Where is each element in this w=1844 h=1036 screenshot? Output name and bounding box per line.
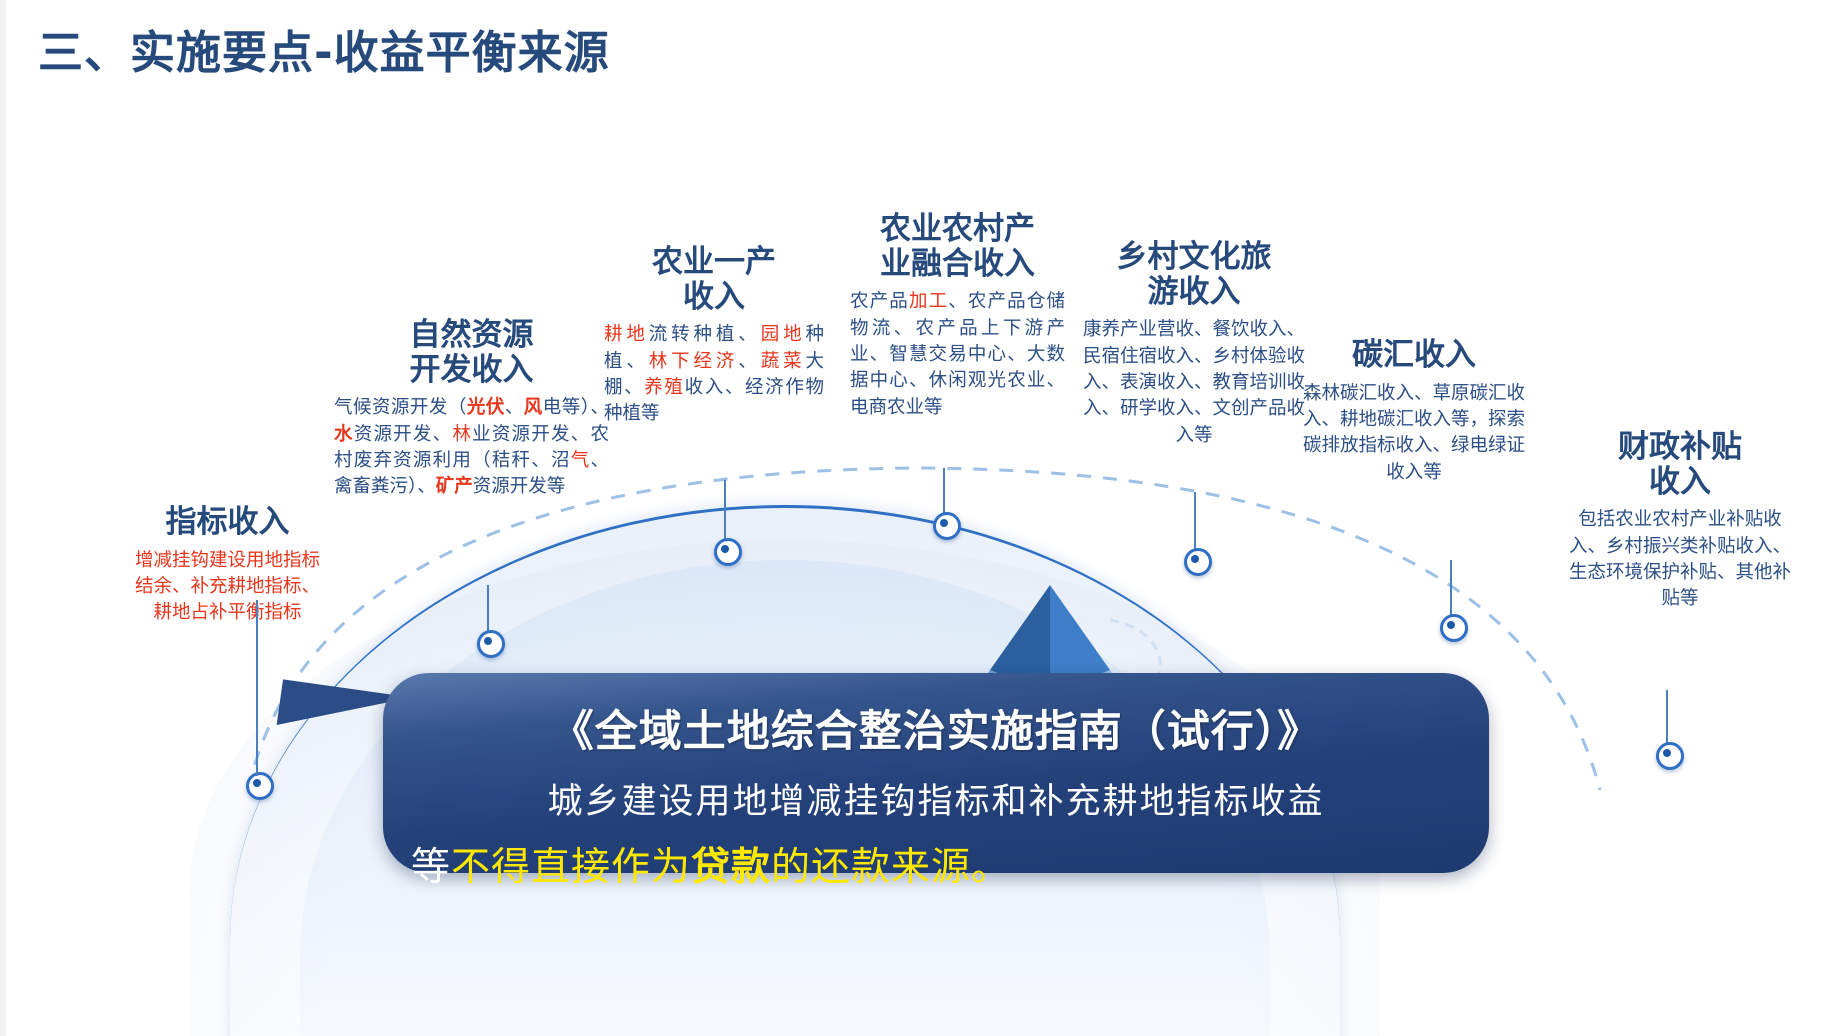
node-body-segment: 森林碳汇收入、草原碳汇收入、耕地碳汇收入等，探索碳排放指标收入、绿电绿证收入等 [1303, 383, 1525, 483]
slide-canvas: 三、实施要点-收益平衡来源 指标收入 增减挂钩建设用地指标结余、补充耕地指标、耕… [0, 0, 1844, 1036]
node-body-segment: 、 [505, 397, 524, 418]
node-body: 增减挂钩建设用地指标结余、补充耕地指标、耕地占补平衡指标 [135, 548, 320, 627]
node-body: 森林碳汇收入、草原碳汇收入、耕地碳汇收入等，探索碳排放指标收入、绿电绿证收入等 [1298, 381, 1530, 486]
node-body-segment: 电等）、 [543, 397, 609, 418]
node-agriculture-rural-integration-income[interactable]: 农业农村产 业融合收入 农产品加工、农产品仓储物流、农产品上下游产业、智慧交易中… [850, 212, 1065, 421]
node-rural-culture-tourism-income[interactable]: 乡村文化旅 游收入 康养产业营收、餐饮收入、民宿住宿收入、乡村体验收入、表演收入… [1075, 240, 1313, 449]
node-body-segment: 养殖 [644, 377, 684, 398]
callout-box: 《全域土地综合整治实施指南（试行）》 城乡建设用地增减挂钩指标和补充耕地指标收益… [383, 673, 1489, 873]
node-title: 指标收入 [135, 505, 320, 540]
connector-dot-indicator-income[interactable] [246, 772, 274, 800]
connector-line-agri-integration [943, 468, 945, 516]
callout-segment: 不得直接作为 [451, 845, 691, 890]
node-body-segment: 林下经济 [649, 351, 739, 372]
node-agriculture-primary-industry-income[interactable]: 农业一产 收入 耕地流转种植、园地种植、林下经济、蔬菜大棚、养殖收入、经济作物种… [604, 245, 824, 428]
node-body-segment: 加工 [909, 291, 948, 312]
node-body: 气候资源开发（光伏、风电等）、水资源开发、林业资源开发、农村废弃资源利用（秸秆、… [334, 395, 609, 500]
node-body-segment: 耕地 [604, 324, 649, 345]
node-title: 农业农村产 业融合收入 [850, 212, 1065, 281]
node-body-segment: 农产品 [850, 291, 909, 312]
node-indicator-income[interactable]: 指标收入 增减挂钩建设用地指标结余、补充耕地指标、耕地占补平衡指标 [135, 505, 320, 627]
node-body-segment: 康养产业营收、餐饮收入、民宿住宿收入、乡村体验收入、表演收入、教育培训收入、研学… [1083, 319, 1305, 445]
page-title: 三、实施要点-收益平衡来源 [38, 16, 610, 81]
callout-line-3: 等不得直接作为贷款的还款来源。 [411, 836, 1489, 892]
node-title: 农业一产 收入 [604, 245, 824, 314]
callout-line-2: 城乡建设用地增减挂钩指标和补充耕地指标收益 [383, 773, 1489, 824]
node-body-segment: 资源开发、 [354, 424, 453, 445]
connector-dot-fiscal-subsidy[interactable] [1656, 742, 1684, 770]
node-title: 财政补贴 收入 [1565, 430, 1795, 499]
node-body-segment: 蔬菜 [761, 351, 806, 372]
callout-segment: 等 [411, 845, 451, 890]
node-natural-resource-development-income[interactable]: 自然资源 开发收入 气候资源开发（光伏、风电等）、水资源开发、林业资源开发、农村… [334, 318, 609, 501]
connector-line-rural-tourism [1194, 492, 1196, 552]
callout-segment: 贷款 [691, 844, 771, 890]
connector-dot-agri-integration[interactable] [933, 512, 961, 540]
connector-dot-agri-primary[interactable] [714, 538, 742, 566]
connector-line-carbon-sink [1450, 560, 1452, 618]
node-body-segment: 光伏 [467, 397, 505, 418]
node-body-segment: 流转种植、 [649, 324, 761, 345]
node-body-segment: 林 [452, 424, 472, 445]
node-body-segment: 水 [334, 424, 354, 445]
node-fiscal-subsidy-income[interactable]: 财政补贴 收入 包括农业农村产业补贴收入、乡村振兴类补贴收入、生态环境保护补贴、… [1565, 430, 1795, 613]
connector-line-natural-resource [487, 585, 489, 633]
node-body-segment: 、 [738, 351, 760, 372]
node-body-segment: 增减挂钩建设用地指标结余、补充耕地指标、耕地占补平衡指标 [135, 550, 320, 624]
node-body-segment: 园地 [761, 324, 806, 345]
connector-dot-natural-resource[interactable] [477, 630, 505, 658]
node-body-segment: 矿产 [436, 476, 473, 497]
callout-line-1: 《全域土地综合整治实施指南（试行）》 [383, 697, 1489, 759]
node-body: 耕地流转种植、园地种植、林下经济、蔬菜大棚、养殖收入、经济作物种植等 [604, 322, 824, 427]
connector-line-agri-primary [724, 480, 726, 542]
connector-dot-carbon-sink[interactable] [1440, 614, 1468, 642]
connector-dot-rural-tourism[interactable] [1184, 548, 1212, 576]
left-edge-bar [0, 0, 6, 1036]
node-title: 乡村文化旅 游收入 [1075, 240, 1313, 309]
node-body-segment: 气候资源开发（ [334, 397, 467, 418]
node-title: 自然资源 开发收入 [334, 318, 609, 387]
node-body-segment: 风 [524, 397, 543, 418]
connector-line-indicator-income-lower [256, 690, 258, 776]
node-body: 包括农业农村产业补贴收入、乡村振兴类补贴收入、生态环境保护补贴、其他补贴等 [1565, 507, 1795, 612]
callout-segment: 的还款来源。 [771, 845, 1011, 890]
node-title: 碳汇收入 [1298, 338, 1530, 373]
node-carbon-sink-income[interactable]: 碳汇收入 森林碳汇收入、草原碳汇收入、耕地碳汇收入等，探索碳排放指标收入、绿电绿… [1298, 338, 1530, 486]
node-body-segment: 气 [571, 450, 591, 471]
node-body-segment: 资源开发等 [473, 476, 566, 497]
node-body: 康养产业营收、餐饮收入、民宿住宿收入、乡村体验收入、表演收入、教育培训收入、研学… [1075, 317, 1313, 448]
node-body-segment: 包括农业农村产业补贴收入、乡村振兴类补贴收入、生态环境保护补贴、其他补贴等 [1569, 509, 1791, 609]
node-body: 农产品加工、农产品仓储物流、农产品上下游产业、智慧交易中心、大数据中心、休闲观光… [850, 289, 1065, 420]
